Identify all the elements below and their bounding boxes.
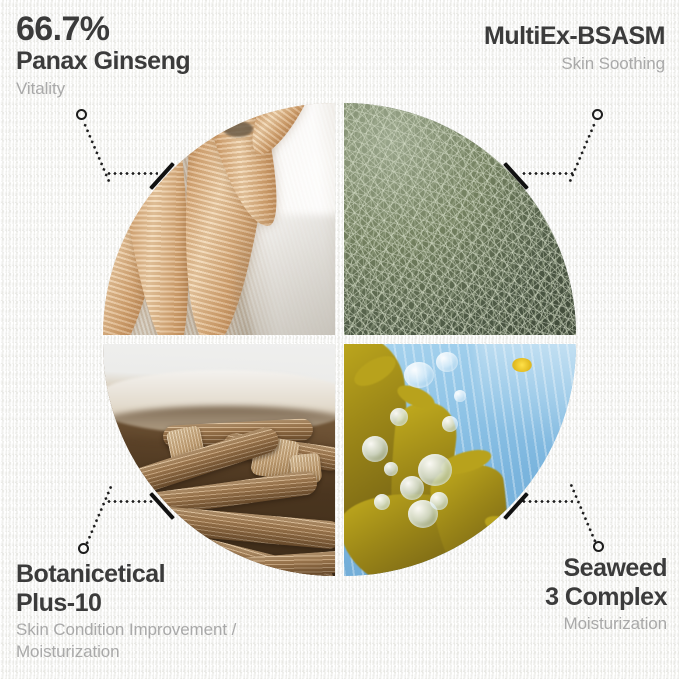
- air-bubble: [436, 352, 458, 372]
- multiex-bsasm-benefit: Skin Soothing: [484, 53, 665, 75]
- quadrant-botanicetical-plus-10: [103, 344, 335, 576]
- quadrant-multiex-bsasm: [344, 103, 576, 335]
- connector-dotted-line: [521, 500, 573, 503]
- sun-glint: [512, 358, 532, 372]
- connector-dotted-line: [106, 172, 158, 175]
- quadrant-panax-ginseng: [103, 103, 335, 335]
- connector-dotted-line: [521, 172, 573, 175]
- air-bubble: [384, 462, 398, 476]
- ingredient-wheel: [103, 103, 576, 576]
- panax-ginseng-benefit: Vitality: [16, 78, 190, 100]
- seaweed-underwater-photo: [344, 344, 576, 576]
- panax-ginseng-name: Panax Ginseng: [16, 47, 190, 76]
- connector-dotted-line: [106, 500, 158, 503]
- panax-ginseng-roots-photo: [103, 103, 335, 335]
- licorice-root-sticks-photo: [103, 344, 335, 576]
- multiex-bsasm-name: MultiEx-BSASM: [484, 22, 665, 51]
- air-bubble: [400, 476, 424, 500]
- air-bubble: [430, 492, 448, 510]
- panax-ginseng-percent: 66.7%: [16, 12, 190, 47]
- seaweed-benefit: Moisturization: [545, 613, 667, 635]
- connector-ring-icon: [76, 109, 87, 120]
- botanicetical-name-line1: Botanicetical: [16, 560, 236, 589]
- air-bubble: [442, 416, 458, 432]
- label-panax-ginseng: 66.7% Panax Ginseng Vitality: [16, 12, 190, 100]
- label-seaweed-3-complex: Seaweed 3 Complex Moisturization: [545, 554, 667, 635]
- seaweed-name-line1: Seaweed: [545, 554, 667, 583]
- connector-ring-icon: [592, 109, 603, 120]
- label-multiex-bsasm: MultiEx-BSASM Skin Soothing: [484, 22, 665, 74]
- photo-speck: [223, 121, 253, 137]
- air-bubble: [362, 436, 388, 462]
- air-bubble: [454, 390, 466, 402]
- label-botanicetical-plus-10: Botanicetical Plus-10 Skin Condition Imp…: [16, 560, 236, 663]
- botanicetical-name-line2: Plus-10: [16, 589, 236, 618]
- quadrant-seaweed-3-complex: [344, 344, 576, 576]
- air-bubble: [390, 408, 408, 426]
- seaweed-name-line2: 3 Complex: [545, 583, 667, 612]
- photo-shadow: [235, 215, 335, 335]
- botanicetical-benefit-line2: Moisturization: [16, 641, 236, 663]
- rosemary-herb-photo: [344, 103, 576, 335]
- botanicetical-benefit-line1: Skin Condition Improvement /: [16, 619, 236, 641]
- air-bubble: [418, 454, 452, 486]
- air-bubble: [404, 362, 434, 388]
- air-bubble: [374, 494, 390, 510]
